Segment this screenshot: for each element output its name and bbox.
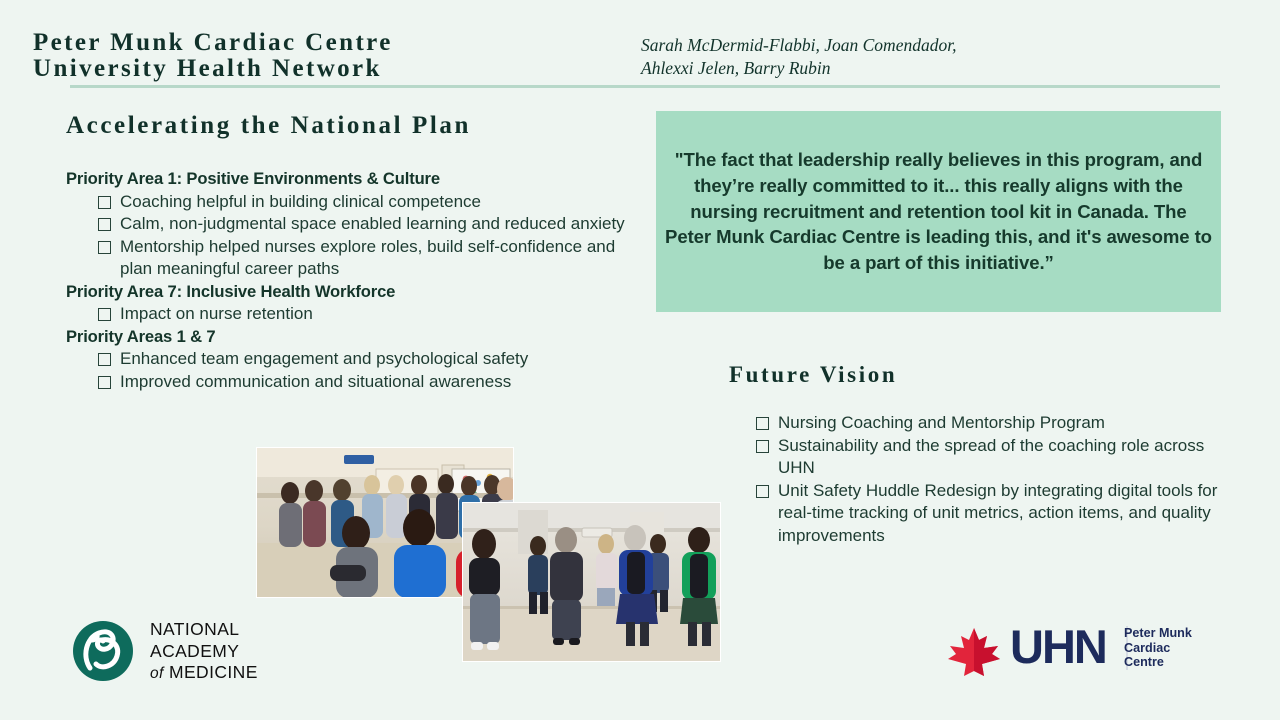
uhn-sub-wordmark: Peter Munk Cardiac Centre: [1124, 626, 1224, 670]
uhn-sub-line-1: Peter Munk: [1124, 626, 1224, 641]
uhn-sub-line-3: Centre: [1124, 655, 1224, 670]
hospital-walk-photo-graphic: [462, 502, 721, 662]
bullet-item: Enhanced team engagement and psychologic…: [98, 348, 636, 371]
empty-checkbox-icon: [98, 196, 111, 209]
uhn-sub-line-2: Cardiac: [1124, 641, 1224, 656]
empty-checkbox-icon: [98, 308, 111, 321]
left-section-title: Accelerating the National Plan: [66, 112, 471, 140]
bullet-item-label: Nursing Coaching and Mentorship Program: [778, 412, 1218, 435]
maple-leaf-icon: [946, 626, 1002, 678]
empty-checkbox-icon: [98, 218, 111, 231]
header-divider: [70, 85, 1220, 88]
empty-checkbox-icon: [756, 485, 769, 498]
bullet-item: Impact on nurse retention: [98, 303, 636, 326]
nam-line-3-italic: of: [150, 665, 164, 682]
bullet-item-label: Mentorship helped nurses explore roles, …: [120, 236, 636, 281]
nam-monogram-icon: [72, 620, 134, 682]
bullet-item: Coaching helpful in building clinical co…: [98, 191, 636, 214]
empty-checkbox-icon: [756, 440, 769, 453]
page-title-line-2: University Health Network: [33, 56, 633, 82]
empty-checkbox-icon: [98, 241, 111, 254]
bullet-item: Sustainability and the spread of the coa…: [756, 435, 1218, 480]
left-bullet-list: Priority Area 1: Positive Environments &…: [66, 168, 636, 394]
bullet-item-label: Unit Safety Huddle Redesign by integrati…: [778, 480, 1218, 548]
hospital-walk-photo: [462, 502, 721, 662]
future-vision-bullet-list: Nursing Coaching and Mentorship ProgramS…: [748, 412, 1218, 548]
empty-checkbox-icon: [98, 353, 111, 366]
slide: Peter Munk Cardiac Centre University Hea…: [0, 0, 1280, 720]
empty-checkbox-icon: [756, 417, 769, 430]
bullet-group-heading: Priority Area 7: Inclusive Health Workfo…: [66, 281, 636, 304]
nam-line-2: ACADEMY: [150, 641, 310, 663]
nam-wordmark: NATIONAL ACADEMY of MEDICINE: [150, 619, 310, 685]
author-line-1: Sarah McDermid-Flabbi, Joan Comendador,: [641, 34, 1161, 57]
nam-line-3-text: MEDICINE: [169, 662, 258, 682]
empty-checkbox-icon: [98, 376, 111, 389]
bullet-item: Nursing Coaching and Mentorship Program: [756, 412, 1218, 435]
bullet-item-label: Sustainability and the spread of the coa…: [778, 435, 1218, 480]
testimonial-quote-text: "The fact that leadership really believe…: [656, 147, 1221, 276]
future-vision-title: Future Vision: [729, 362, 897, 388]
bullet-group-heading: Priority Areas 1 & 7: [66, 326, 636, 349]
author-list: Sarah McDermid-Flabbi, Joan Comendador, …: [641, 34, 1161, 80]
nam-line-3: of MEDICINE: [150, 662, 310, 685]
uhn-peter-munk-cardiac-centre-logo: UHN Peter Munk Cardiac Centre: [946, 622, 1216, 682]
uhn-wordmark: UHN: [1010, 619, 1106, 674]
bullet-group-heading: Priority Area 1: Positive Environments &…: [66, 168, 636, 191]
testimonial-quote-box: "The fact that leadership really believe…: [656, 111, 1221, 312]
national-academy-of-medicine-logo: NATIONAL ACADEMY of MEDICINE: [72, 618, 312, 690]
author-line-2: Ahlexxi Jelen, Barry Rubin: [641, 57, 1161, 80]
bullet-item-label: Improved communication and situational a…: [120, 371, 636, 394]
bullet-item: Unit Safety Huddle Redesign by integrati…: [756, 480, 1218, 548]
bullet-item-label: Impact on nurse retention: [120, 303, 636, 326]
page-title-line-1: Peter Munk Cardiac Centre: [33, 30, 633, 56]
bullet-item: Improved communication and situational a…: [98, 371, 636, 394]
bullet-item-label: Calm, non-judgmental space enabled learn…: [120, 213, 636, 236]
bullet-item: Calm, non-judgmental space enabled learn…: [98, 213, 636, 236]
bullet-item: Mentorship helped nurses explore roles, …: [98, 236, 636, 281]
bullet-item-label: Coaching helpful in building clinical co…: [120, 191, 636, 214]
bullet-item-label: Enhanced team engagement and psychologic…: [120, 348, 636, 371]
nam-line-1: NATIONAL: [150, 619, 310, 641]
page-title: Peter Munk Cardiac Centre University Hea…: [33, 30, 633, 82]
